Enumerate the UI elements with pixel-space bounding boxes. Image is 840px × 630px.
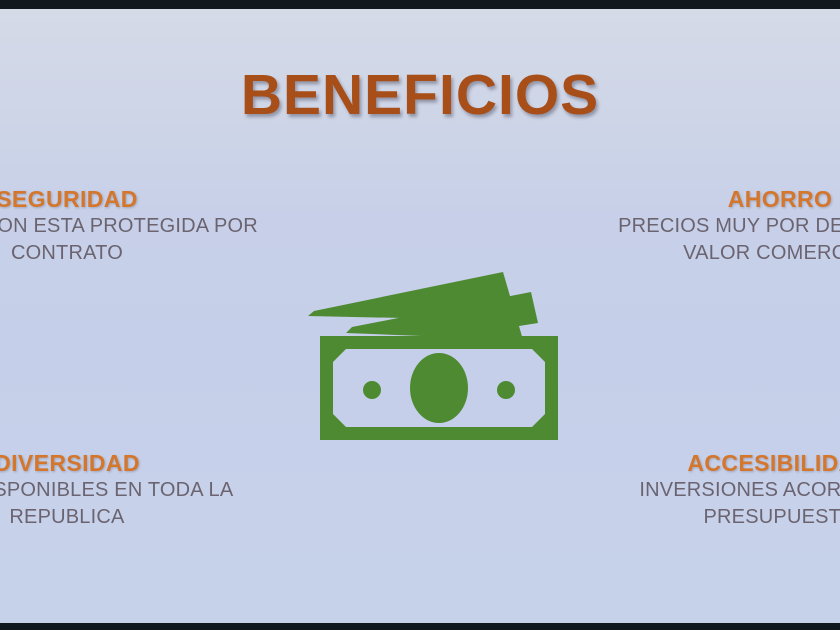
benefit-heading-diversidad: DIVERSIDAD (0, 450, 252, 477)
slide-canvas: BENEFICIOS SEGURIDAD SU INVERSION ESTA P… (0, 9, 840, 623)
benefit-block-diversidad: DIVERSIDAD LOTES DISPONIBLES EN TODA LA … (0, 450, 252, 530)
banknote-left-dot (363, 381, 381, 399)
banknote-center-oval (410, 353, 468, 423)
benefit-body-accesibilidad: INVERSIONES ACORDE A SU PRESUPUESTO (590, 477, 840, 530)
benefit-heading-accesibilidad: ACCESIBILIDAD (590, 450, 840, 477)
benefit-body-diversidad: LOTES DISPONIBLES EN TODA LA REPUBLICA (0, 477, 252, 530)
benefit-block-ahorro: AHORRO PRECIOS MUY POR DEBAJO DEL VALOR … (590, 186, 840, 266)
money-banknote-icon (300, 254, 590, 454)
banknote-right-dot (497, 381, 515, 399)
benefit-block-seguridad: SEGURIDAD SU INVERSION ESTA PROTEGIDA PO… (0, 186, 252, 266)
benefit-body-line: INVERSIONES ACORDE A SU (590, 477, 840, 503)
benefit-body-line: SU INVERSION ESTA PROTEGIDA POR (0, 213, 252, 239)
benefit-body-line: CONTRATO (0, 240, 252, 266)
benefit-body-line: VALOR COMERCIAL (590, 240, 840, 266)
benefit-body-line: REPUBLICA (0, 504, 252, 530)
presentation-slide: BENEFICIOS SEGURIDAD SU INVERSION ESTA P… (0, 0, 840, 630)
letterbox-bar-top (0, 0, 840, 9)
letterbox-bar-bottom (0, 623, 840, 630)
benefit-block-accesibilidad: ACCESIBILIDAD INVERSIONES ACORDE A SU PR… (590, 450, 840, 530)
page-title: BENEFICIOS (0, 62, 840, 128)
benefit-body-seguridad: SU INVERSION ESTA PROTEGIDA POR CONTRATO (0, 213, 252, 266)
benefit-body-line: PRECIOS MUY POR DEBAJO DEL (590, 213, 840, 239)
benefit-body-line: PRESUPUESTO (590, 504, 840, 530)
benefit-body-ahorro: PRECIOS MUY POR DEBAJO DEL VALOR COMERCI… (590, 213, 840, 266)
benefit-body-line: LOTES DISPONIBLES EN TODA LA (0, 477, 252, 503)
benefit-heading-seguridad: SEGURIDAD (0, 186, 252, 213)
benefit-heading-ahorro: AHORRO (590, 186, 840, 213)
